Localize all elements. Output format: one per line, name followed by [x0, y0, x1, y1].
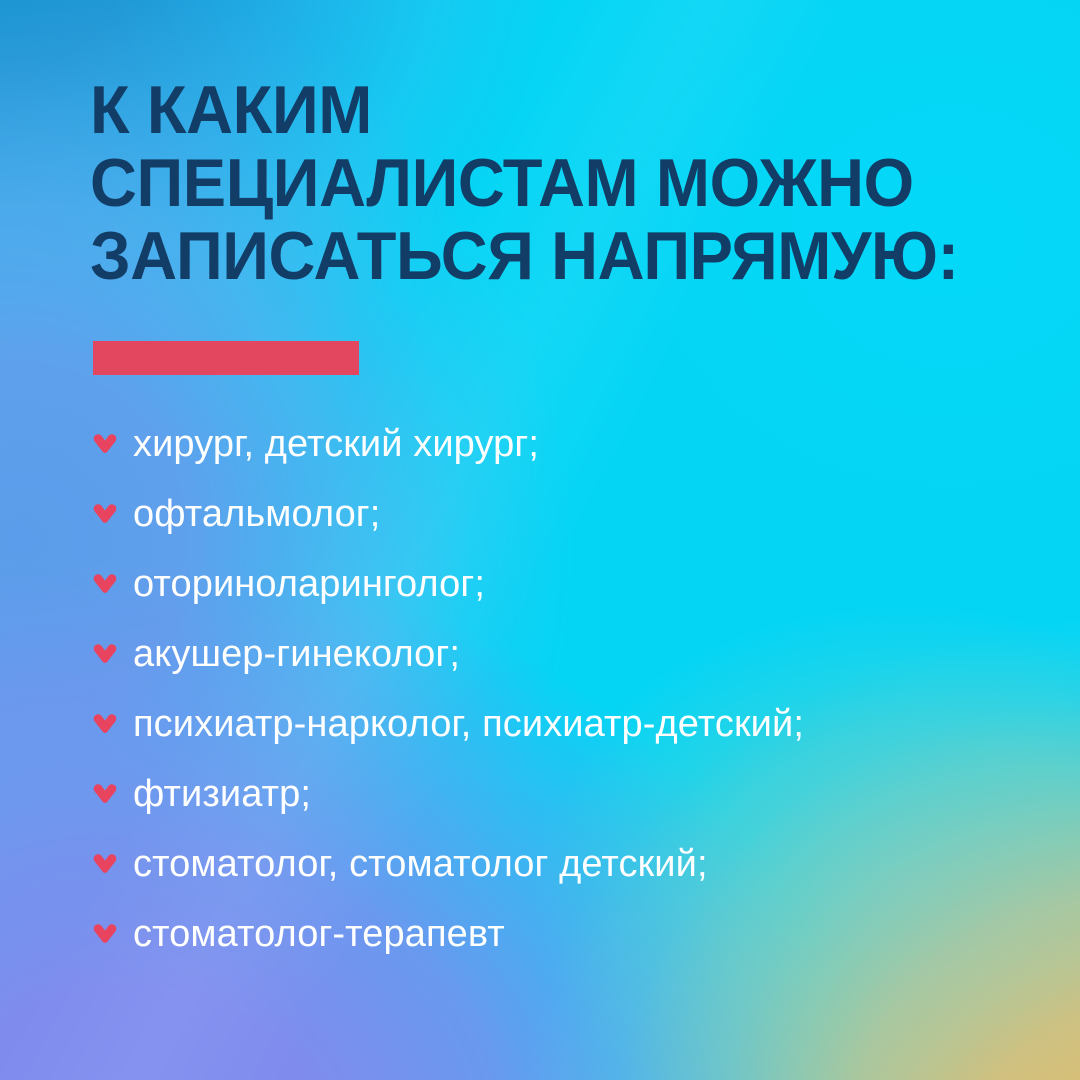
list-item: стоматолог-терапевт	[93, 899, 1053, 969]
title-line-1: К КАКИМ	[90, 74, 978, 147]
list-item: фтизиатр;	[93, 759, 1053, 829]
list-item-label: хирург, детский хирург;	[133, 422, 539, 466]
list-item: стоматолог, стоматолог детский;	[93, 829, 1053, 899]
list-item-label: акушер-гинеколог;	[133, 632, 460, 676]
list-item-label: оториноларинголог;	[133, 562, 485, 606]
poster-canvas: К КАКИМ СПЕЦИАЛИСТАМ МОЖНО ЗАПИСАТЬСЯ НА…	[0, 0, 1080, 1080]
accent-bar-divider	[93, 341, 359, 375]
list-item-label: стоматолог-терапевт	[133, 912, 505, 956]
heart-bullet-icon	[93, 714, 117, 736]
list-item-label: фтизиатр;	[133, 772, 311, 816]
list-item: офтальмолог;	[93, 479, 1053, 549]
specialists-list: хирург, детский хирург; офтальмолог; ото…	[93, 409, 1053, 969]
heart-bullet-icon	[93, 924, 117, 946]
heart-bullet-icon	[93, 854, 117, 876]
heart-bullet-icon	[93, 434, 117, 456]
title-line-3: ЗАПИСАТЬСЯ НАПРЯМУЮ:	[90, 220, 978, 293]
title-line-2: СПЕЦИАЛИСТАМ МОЖНО	[90, 147, 978, 220]
list-item-label: офтальмолог;	[133, 492, 380, 536]
list-item: психиатр-нарколог, психиатр-детский;	[93, 689, 1053, 759]
heart-bullet-icon	[93, 574, 117, 596]
list-item: хирург, детский хирург;	[93, 409, 1053, 479]
list-item-label: стоматолог, стоматолог детский;	[133, 842, 708, 886]
heart-bullet-icon	[93, 504, 117, 526]
list-item: оториноларинголог;	[93, 549, 1053, 619]
heart-bullet-icon	[93, 644, 117, 666]
heart-bullet-icon	[93, 784, 117, 806]
poster-content: К КАКИМ СПЕЦИАЛИСТАМ МОЖНО ЗАПИСАТЬСЯ НА…	[0, 0, 1080, 1080]
list-item: акушер-гинеколог;	[93, 619, 1053, 689]
page-title: К КАКИМ СПЕЦИАЛИСТАМ МОЖНО ЗАПИСАТЬСЯ НА…	[90, 74, 978, 293]
list-item-label: психиатр-нарколог, психиатр-детский;	[133, 702, 804, 746]
